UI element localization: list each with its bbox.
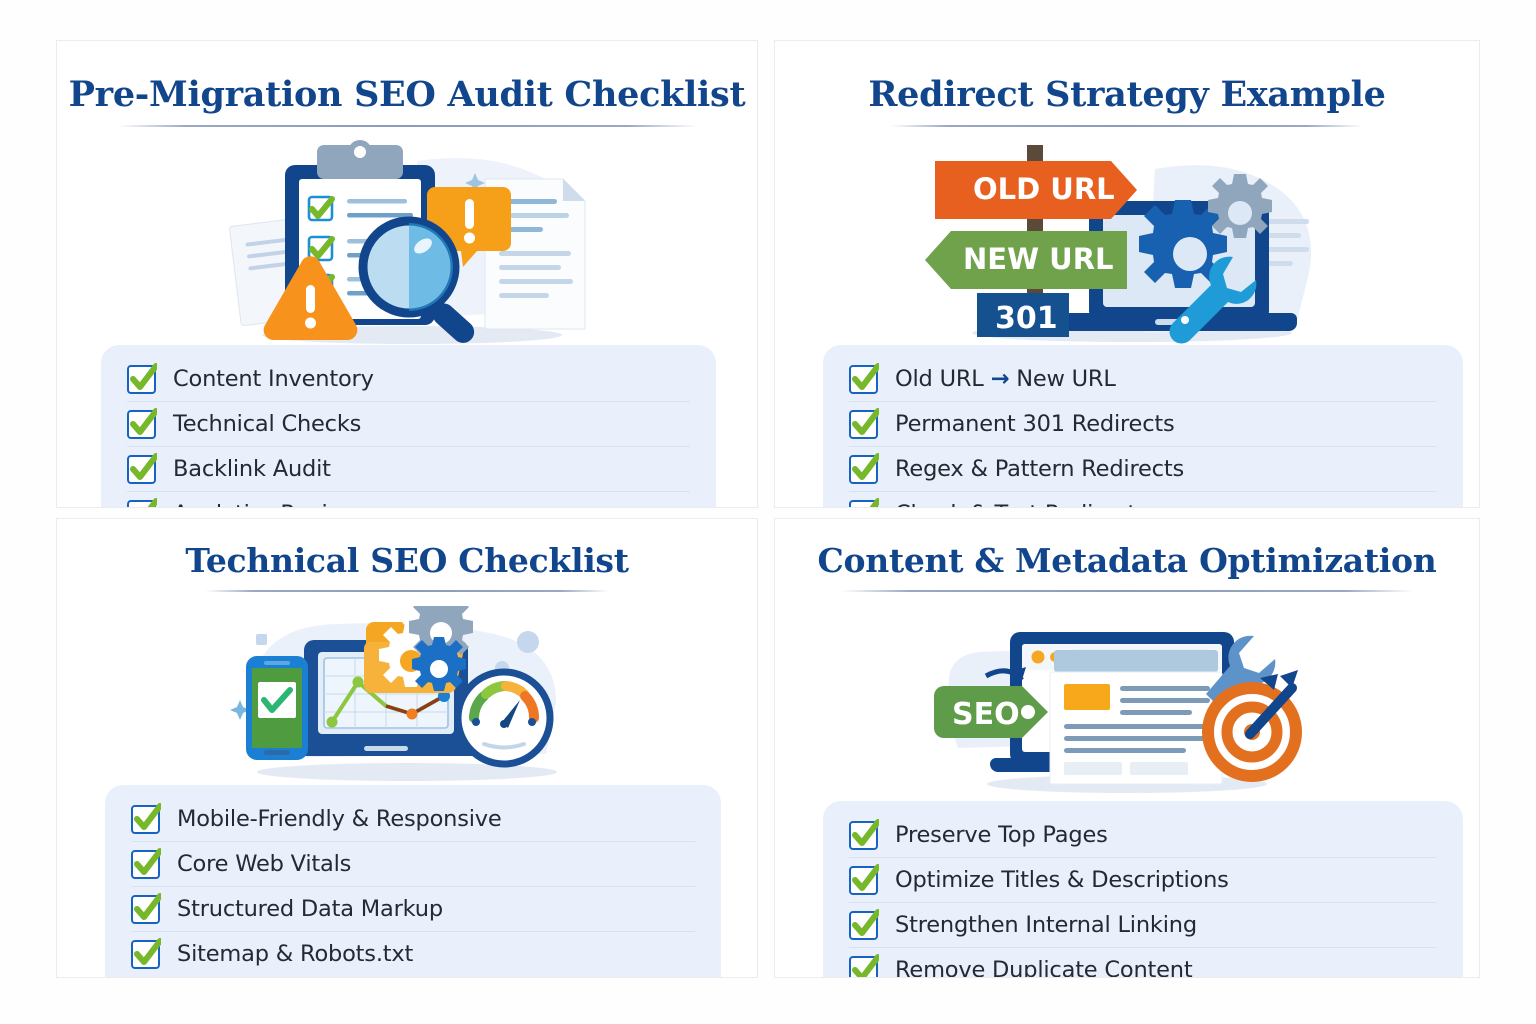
seo-tag-label: SEO	[952, 697, 1020, 732]
panel-pre-migration-seo-audit: Pre-Migration SEO Audit Checklist	[56, 40, 758, 508]
checklist-card: Old URL → New URL Permanent 301 Redirect…	[823, 345, 1463, 508]
panel-title: Pre-Migration SEO Audit Checklist	[57, 74, 757, 115]
signpost-laptop-gears-illustration: OLD URL NEW URL 301	[917, 137, 1337, 347]
checkbox-checked-icon[interactable]	[849, 866, 878, 895]
content-card	[1050, 650, 1222, 784]
panel-title: Technical SEO Checklist	[57, 541, 757, 580]
status-code-301-label: 301	[995, 301, 1058, 336]
checklist-card: Preserve Top Pages Optimize Titles & Des…	[823, 801, 1463, 978]
checkbox-checked-icon[interactable]	[849, 500, 878, 509]
checklist-item[interactable]: Old URL → New URL	[849, 357, 1437, 402]
checklist-item-label: Regex & Pattern Redirects	[895, 456, 1184, 482]
checklist-item[interactable]: Optimize Titles & Descriptions	[849, 858, 1437, 903]
checkbox-checked-icon[interactable]	[849, 410, 878, 439]
checklist-item[interactable]: Regex & Pattern Redirects	[849, 447, 1437, 492]
checkbox-checked-icon[interactable]	[131, 895, 160, 924]
checklist-item-label: Old URL → New URL	[895, 366, 1116, 392]
gear-blue-icon	[412, 637, 466, 691]
checklist-item[interactable]: Content Inventory	[127, 357, 690, 402]
checklist-item-label: Sitemap & Robots.txt	[177, 941, 413, 967]
checklist-item-label: Analytics Review	[173, 501, 359, 508]
checklist-item-label: Check & Test Redirects	[895, 501, 1148, 508]
browser-seo-tag-target-illustration: SEO	[922, 606, 1332, 796]
checklist-card: Mobile-Friendly & Responsive Core Web Vi…	[105, 785, 721, 978]
checkbox-checked-icon[interactable]	[131, 850, 160, 879]
new-url-sign: NEW URL	[925, 231, 1127, 289]
clipboard-magnifier-warning-illustration	[207, 139, 607, 349]
checklist-item-label: Core Web Vitals	[177, 851, 351, 877]
new-url-label: NEW URL	[963, 242, 1114, 276]
checklist-item[interactable]: Remove Duplicate Content	[849, 948, 1437, 978]
checkbox-checked-icon[interactable]	[127, 365, 156, 394]
panel-redirect-strategy: Redirect Strategy Example	[774, 40, 1480, 508]
title-divider	[117, 125, 697, 127]
title-divider	[841, 590, 1413, 592]
arrow-right-icon: →	[991, 366, 1010, 392]
checkbox-checked-icon[interactable]	[131, 940, 160, 969]
checklist-item[interactable]: Core Web Vitals	[131, 842, 695, 887]
phone-laptop-chart-gauge-illustration	[222, 606, 592, 786]
checklist-item[interactable]: Technical Checks	[127, 402, 690, 447]
speed-gauge-icon	[458, 672, 550, 764]
checklist-item[interactable]: Backlink Audit	[127, 447, 690, 492]
infographic-canvas: Pre-Migration SEO Audit Checklist	[0, 0, 1536, 1024]
old-url-label: OLD URL	[973, 172, 1115, 206]
checklist-item-label: Structured Data Markup	[177, 896, 443, 922]
checkbox-checked-icon[interactable]	[127, 500, 156, 509]
title-divider	[891, 125, 1363, 127]
old-url-sign: OLD URL	[935, 161, 1137, 219]
checklist-item[interactable]: Strengthen Internal Linking	[849, 903, 1437, 948]
gear-small-icon	[1208, 174, 1272, 238]
status-code-301-sign: 301	[977, 293, 1069, 337]
panel-content-metadata-optimization: Content & Metadata Optimization	[774, 518, 1480, 978]
folder-gears-icon	[364, 606, 473, 693]
checklist-item[interactable]: Check & Test Redirects	[849, 492, 1437, 508]
panel-title: Content & Metadata Optimization	[775, 541, 1479, 580]
checkbox-checked-icon[interactable]	[127, 455, 156, 484]
panel-technical-seo-checklist: Technical SEO Checklist	[56, 518, 758, 978]
checklist-item[interactable]: Analytics Review	[127, 492, 690, 508]
phone-icon	[246, 656, 308, 760]
checklist-item-label: Remove Duplicate Content	[895, 957, 1193, 978]
checklist-item[interactable]: Mobile-Friendly & Responsive	[131, 797, 695, 842]
checklist-item-label: Backlink Audit	[173, 456, 331, 482]
checklist-item-label: Preserve Top Pages	[895, 822, 1108, 848]
checklist-item[interactable]: Permanent 301 Redirects	[849, 402, 1437, 447]
checkbox-checked-icon[interactable]	[849, 821, 878, 850]
checkbox-checked-icon[interactable]	[849, 911, 878, 940]
title-divider	[205, 590, 609, 592]
checklist-item-label: Mobile-Friendly & Responsive	[177, 806, 502, 832]
checklist-item-label: Content Inventory	[173, 366, 374, 392]
checklist-card: Content Inventory Technical Checks Backl…	[101, 345, 716, 508]
checkbox-checked-icon[interactable]	[849, 455, 878, 484]
checklist-item-label: Strengthen Internal Linking	[895, 912, 1197, 938]
checklist-item-label: Optimize Titles & Descriptions	[895, 867, 1229, 893]
checklist-item[interactable]: Preserve Top Pages	[849, 813, 1437, 858]
checklist-item-label: Technical Checks	[173, 411, 361, 437]
checkbox-checked-icon[interactable]	[849, 956, 878, 979]
checklist-item[interactable]: Structured Data Markup	[131, 887, 695, 932]
checklist-item-label: Permanent 301 Redirects	[895, 411, 1175, 437]
panel-title: Redirect Strategy Example	[775, 74, 1479, 115]
checkbox-checked-icon[interactable]	[127, 410, 156, 439]
checkbox-checked-icon[interactable]	[131, 805, 160, 834]
checkbox-checked-icon[interactable]	[849, 365, 878, 394]
checklist-item[interactable]: Sitemap & Robots.txt	[131, 932, 695, 976]
